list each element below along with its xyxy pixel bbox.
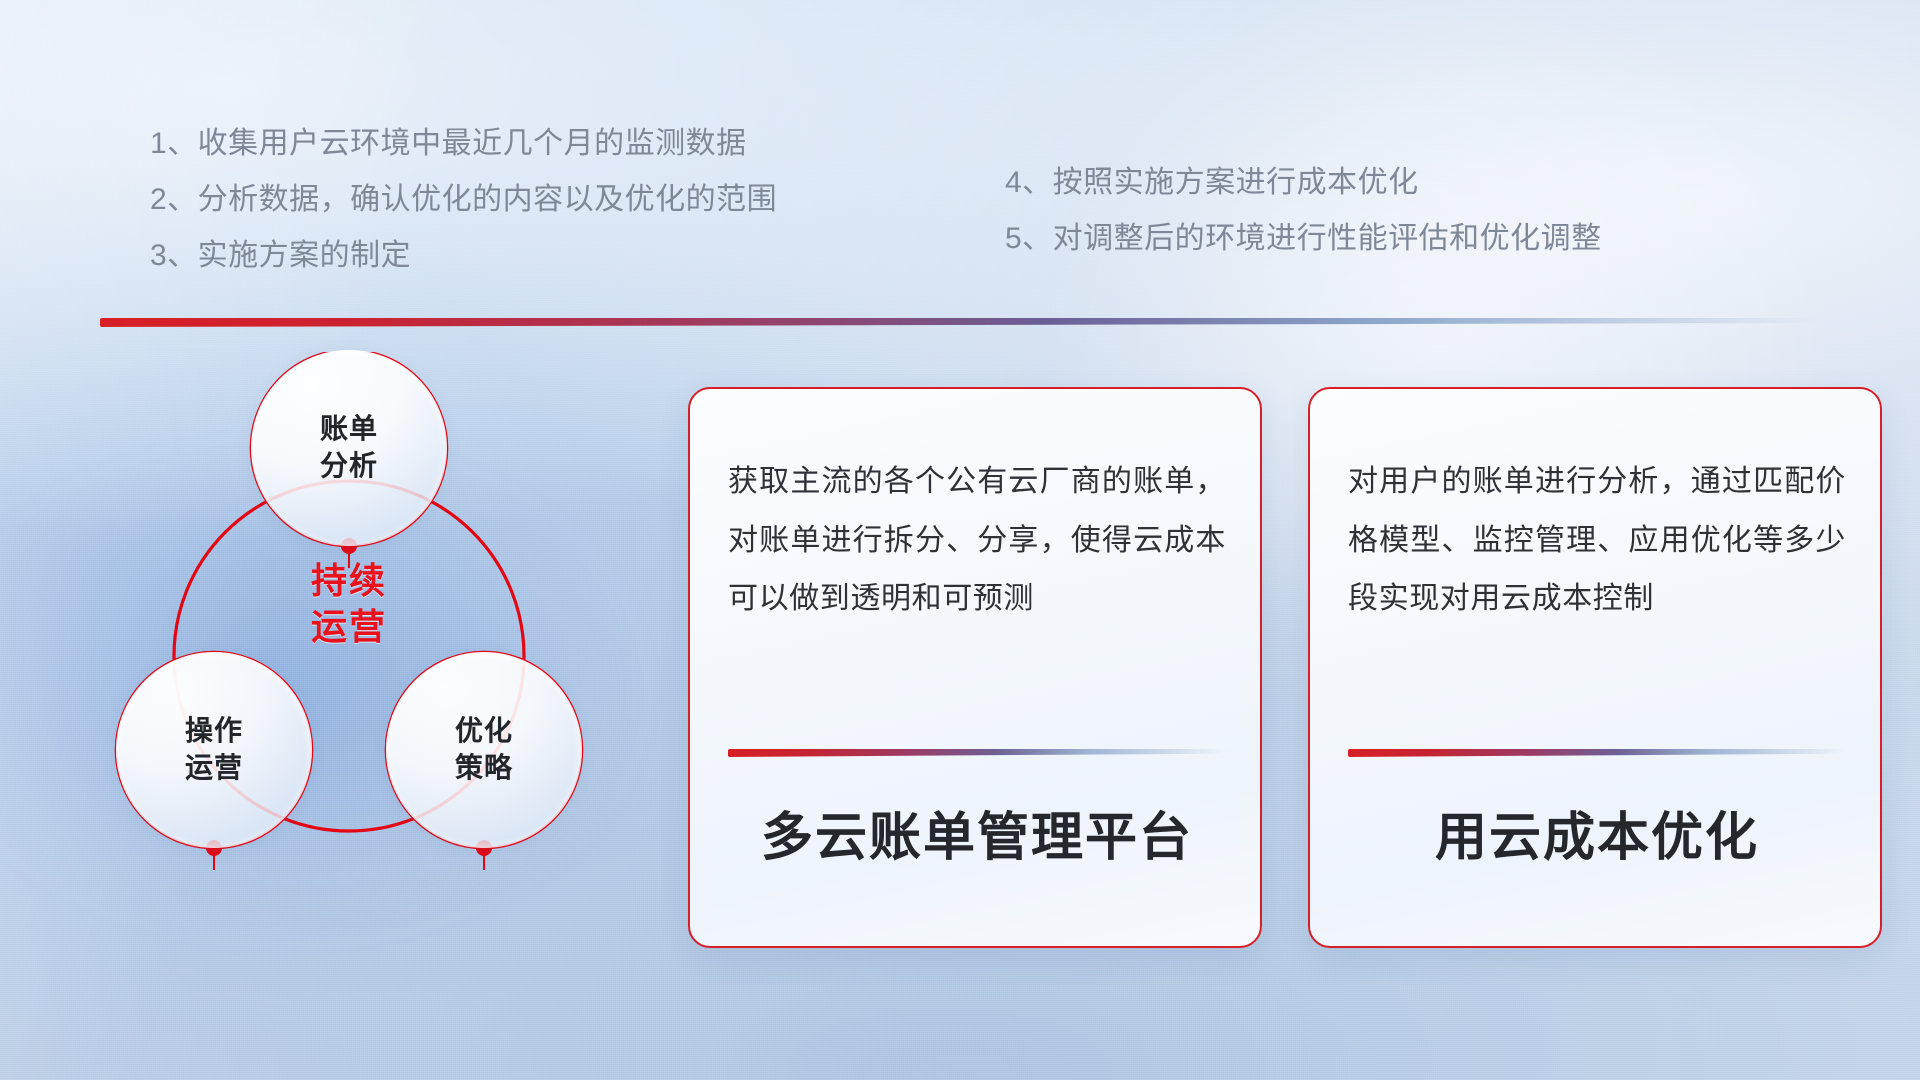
step-item-3: 3、实施方案的制定 bbox=[150, 228, 777, 284]
venn-node-label: 优化 策略 bbox=[455, 713, 513, 787]
card-body-text: 对用户的账单进行分析，通过匹配价格模型、监控管理、应用优化等多少段实现对用云成本… bbox=[1348, 453, 1846, 629]
venn-node-bill-analysis[interactable]: 账单 分析 bbox=[251, 350, 447, 546]
card-accent-rule bbox=[728, 749, 1226, 757]
steps-left-column: 1、收集用户云环境中最近几个月的监测数据 2、分析数据，确认优化的内容以及优化的… bbox=[150, 116, 777, 284]
venn-node-optimization-strategy[interactable]: 优化 策略 bbox=[386, 652, 582, 848]
venn-node-label: 操作 运营 bbox=[185, 713, 243, 787]
step-item-1: 1、收集用户云环境中最近几个月的监测数据 bbox=[150, 116, 777, 172]
step-item-5: 5、对调整后的环境进行性能评估和优化调整 bbox=[1005, 211, 1602, 267]
venn-center-label: 持续 运营 bbox=[251, 558, 447, 650]
steps-right-column: 4、按照实施方案进行成本优化 5、对调整后的环境进行性能评估和优化调整 bbox=[1005, 155, 1602, 267]
card-accent-rule bbox=[1348, 749, 1846, 757]
venn-diagram: 账单 分析 操作 运营 优化 策略 持续 运营 bbox=[96, 352, 656, 932]
card-body-text: 获取主流的各个公有云厂商的账单，对账单进行拆分、分享，使得云成本可以做到透明和可… bbox=[728, 453, 1226, 629]
step-item-4: 4、按照实施方案进行成本优化 bbox=[1005, 155, 1602, 211]
venn-node-label: 账单 分析 bbox=[320, 411, 378, 485]
card-cloud-cost-optimization[interactable]: 对用户的账单进行分析，通过匹配价格模型、监控管理、应用优化等多少段实现对用云成本… bbox=[1308, 387, 1882, 948]
card-multicloud-billing-platform[interactable]: 获取主流的各个公有云厂商的账单，对账单进行拆分、分享，使得云成本可以做到透明和可… bbox=[688, 387, 1262, 948]
venn-node-operations[interactable]: 操作 运营 bbox=[116, 652, 312, 848]
card-title: 多云账单管理平台 bbox=[724, 807, 1230, 869]
step-item-2: 2、分析数据，确认优化的内容以及优化的范围 bbox=[150, 172, 777, 228]
card-title: 用云成本优化 bbox=[1344, 807, 1850, 869]
